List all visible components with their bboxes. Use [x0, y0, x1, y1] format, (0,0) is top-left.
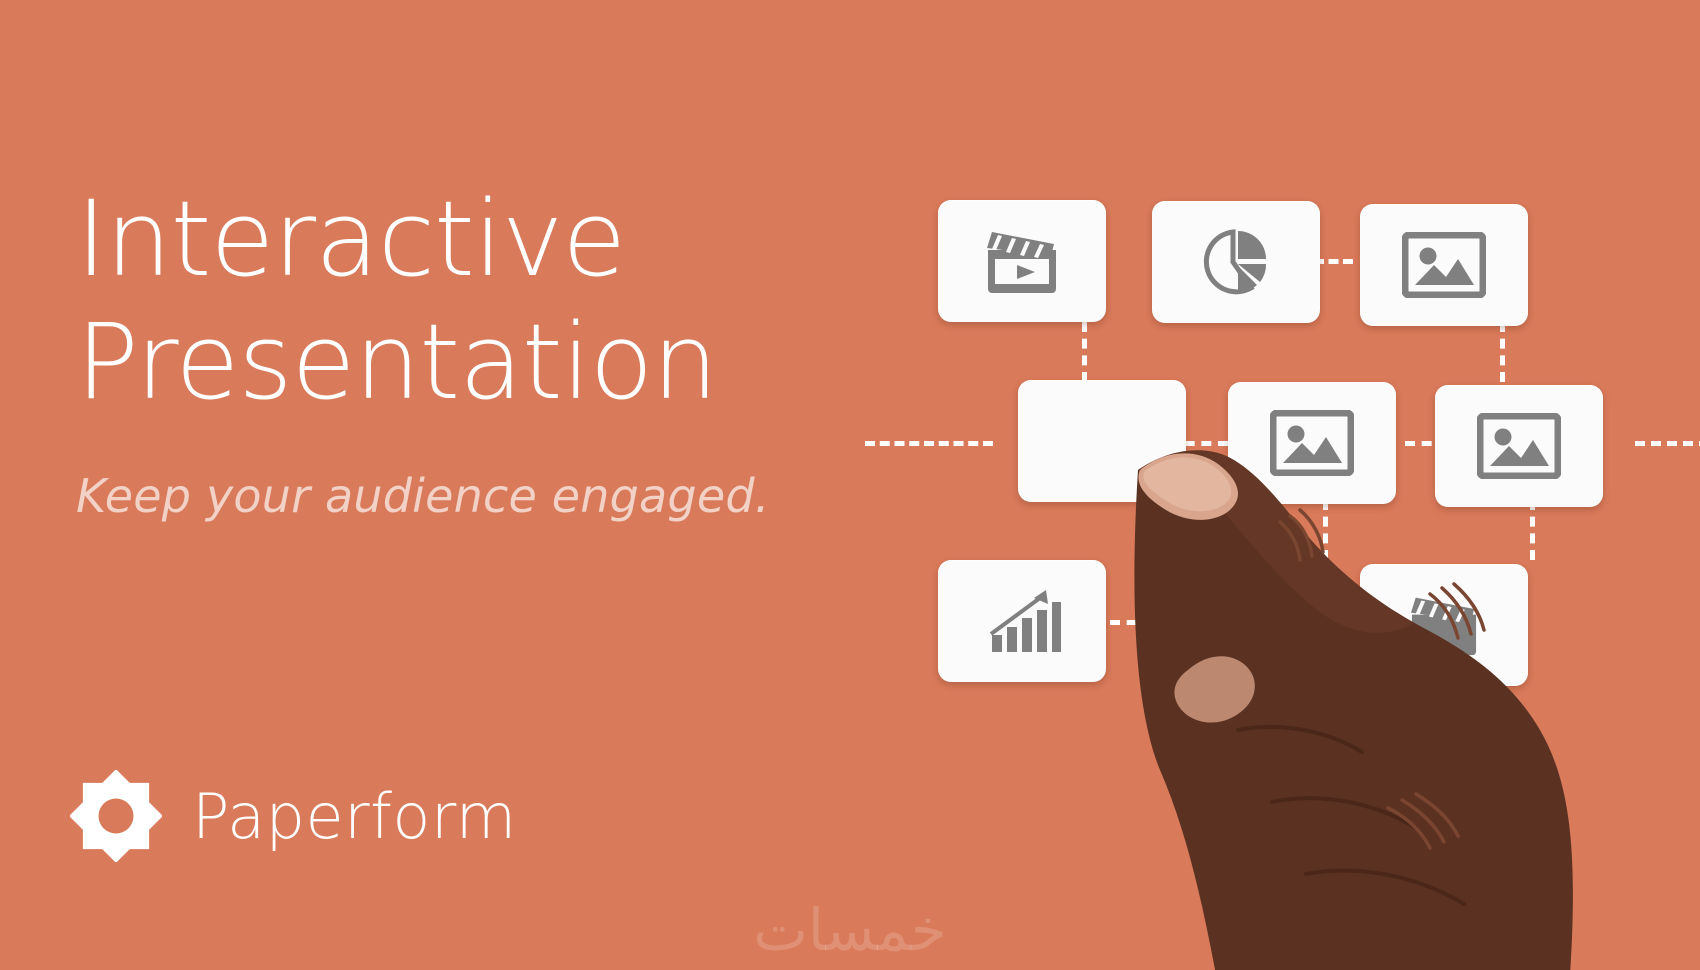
image-icon: [1477, 413, 1561, 479]
subtitle: Keep your audience engaged.: [76, 469, 936, 523]
connector-r1c3-to-r2c3: [1500, 322, 1505, 382]
headline-block: Interactive Presentation Keep your audie…: [76, 178, 936, 523]
page-title: Interactive Presentation: [76, 178, 936, 423]
connector-r1c1-to-r2c1: [1082, 322, 1087, 382]
connector-r2c3-to-r3c3: [1530, 500, 1535, 560]
pie-chart-icon: [1200, 226, 1272, 298]
card-pie-chart[interactable]: [1152, 201, 1320, 323]
brand-name: Paperform: [192, 780, 517, 853]
slide-canvas: Interactive Presentation Keep your audie…: [0, 0, 1700, 970]
clapperboard-icon: [1404, 592, 1484, 658]
image-icon: [1402, 232, 1486, 298]
card-image-r1c3[interactable]: [1360, 204, 1528, 326]
watermark-text: خمسات: [0, 896, 1700, 964]
card-grid: [930, 200, 1700, 720]
card-blank-touched[interactable]: [1018, 380, 1186, 502]
finger-separations: [1238, 727, 1464, 904]
knuckle-creases-lower: [1388, 794, 1458, 848]
paperform-star-logo-icon: [70, 770, 162, 862]
card-bar-chart-trend[interactable]: [938, 560, 1106, 682]
bar-chart-trend-icon: [982, 587, 1062, 655]
connector-r2c2-to-r3c2: [1323, 500, 1328, 560]
connector-left-into-row2: [865, 441, 993, 446]
card-clapperboard-play[interactable]: [938, 200, 1106, 322]
card-image-r2c2[interactable]: [1228, 382, 1396, 504]
connector-row2-right-edge: [1635, 441, 1700, 446]
card-image-r2c3[interactable]: [1435, 385, 1603, 507]
brand-logo: Paperform: [70, 770, 517, 862]
card-clapperboard[interactable]: [1360, 564, 1528, 686]
clapperboard-play-icon: [982, 226, 1062, 296]
image-icon: [1270, 410, 1354, 476]
card-blank-r3c2[interactable]: [1152, 562, 1320, 684]
